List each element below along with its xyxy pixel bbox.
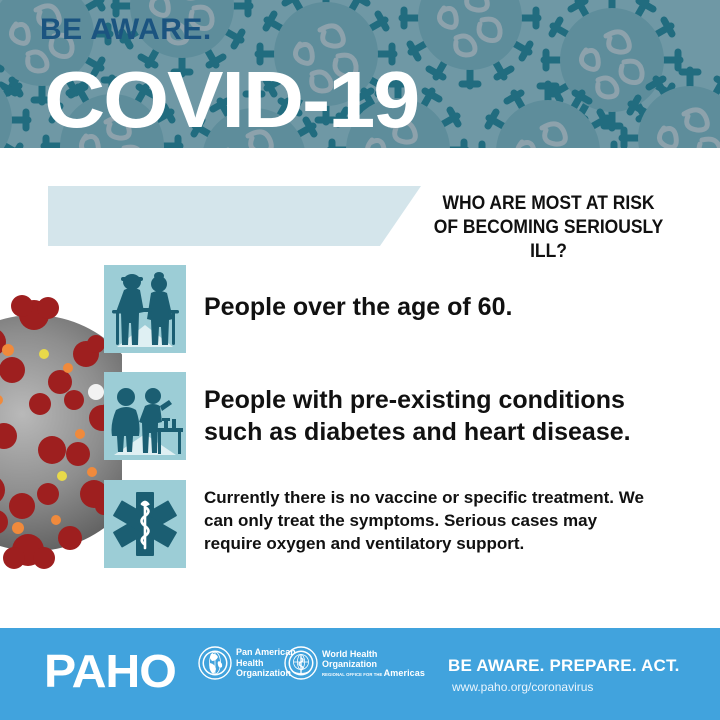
who-emblem-icon xyxy=(284,646,318,680)
who-logo: World Health Organization REGIONAL OFFIC… xyxy=(284,646,425,680)
risk-row-preexisting: People with pre-existing conditions such… xyxy=(0,372,720,467)
who-logo-line1: World Health xyxy=(322,649,425,660)
elderly-couple-icon xyxy=(104,265,186,353)
footer-url[interactable]: www.paho.org/coronavirus xyxy=(452,680,593,694)
elderly-couple-icon-tile xyxy=(104,265,186,353)
who-logo-region: Americas xyxy=(384,668,425,678)
patient-examination-icon xyxy=(104,372,186,460)
who-logo-text: World Health Organization REGIONAL OFFIC… xyxy=(322,649,425,678)
page-title: COVID-19 xyxy=(44,60,418,140)
paho-wordmark: PAHO xyxy=(44,644,176,698)
risk-row-elderly: People over the age of 60. xyxy=(0,265,720,360)
risk-text-elderly: People over the age of 60. xyxy=(204,292,684,322)
star-of-life-icon xyxy=(104,480,186,568)
risk-text-preexisting: People with pre-existing conditions such… xyxy=(204,384,674,448)
patient-examination-icon-tile xyxy=(104,372,186,460)
risk-text-treatment: Currently there is no vaccine or specifi… xyxy=(204,486,644,555)
paho-logo: Pan American Health Organization xyxy=(198,646,296,680)
be-aware-banner xyxy=(48,186,421,246)
footer-slogan: BE AWARE. PREPARE. ACT. xyxy=(448,656,680,676)
covid-19-infographic-poster: COVID-19 BE AWARE. WHO ARE MOST AT RISK … xyxy=(0,0,720,720)
footer-bar: PAHO Pan American Health Organi xyxy=(0,628,720,720)
risk-row-treatment: Currently there is no vaccine or specifi… xyxy=(0,480,720,580)
star-of-life-icon-tile xyxy=(104,480,186,568)
paho-emblem-icon xyxy=(198,646,232,680)
be-aware-label: BE AWARE. xyxy=(40,13,212,47)
risk-question: WHO ARE MOST AT RISK OF BECOMING SERIOUS… xyxy=(428,192,669,264)
who-logo-regional: REGIONAL OFFICE FOR THE Americas xyxy=(322,670,425,678)
who-logo-regional-prefix: REGIONAL OFFICE FOR THE xyxy=(322,672,382,677)
